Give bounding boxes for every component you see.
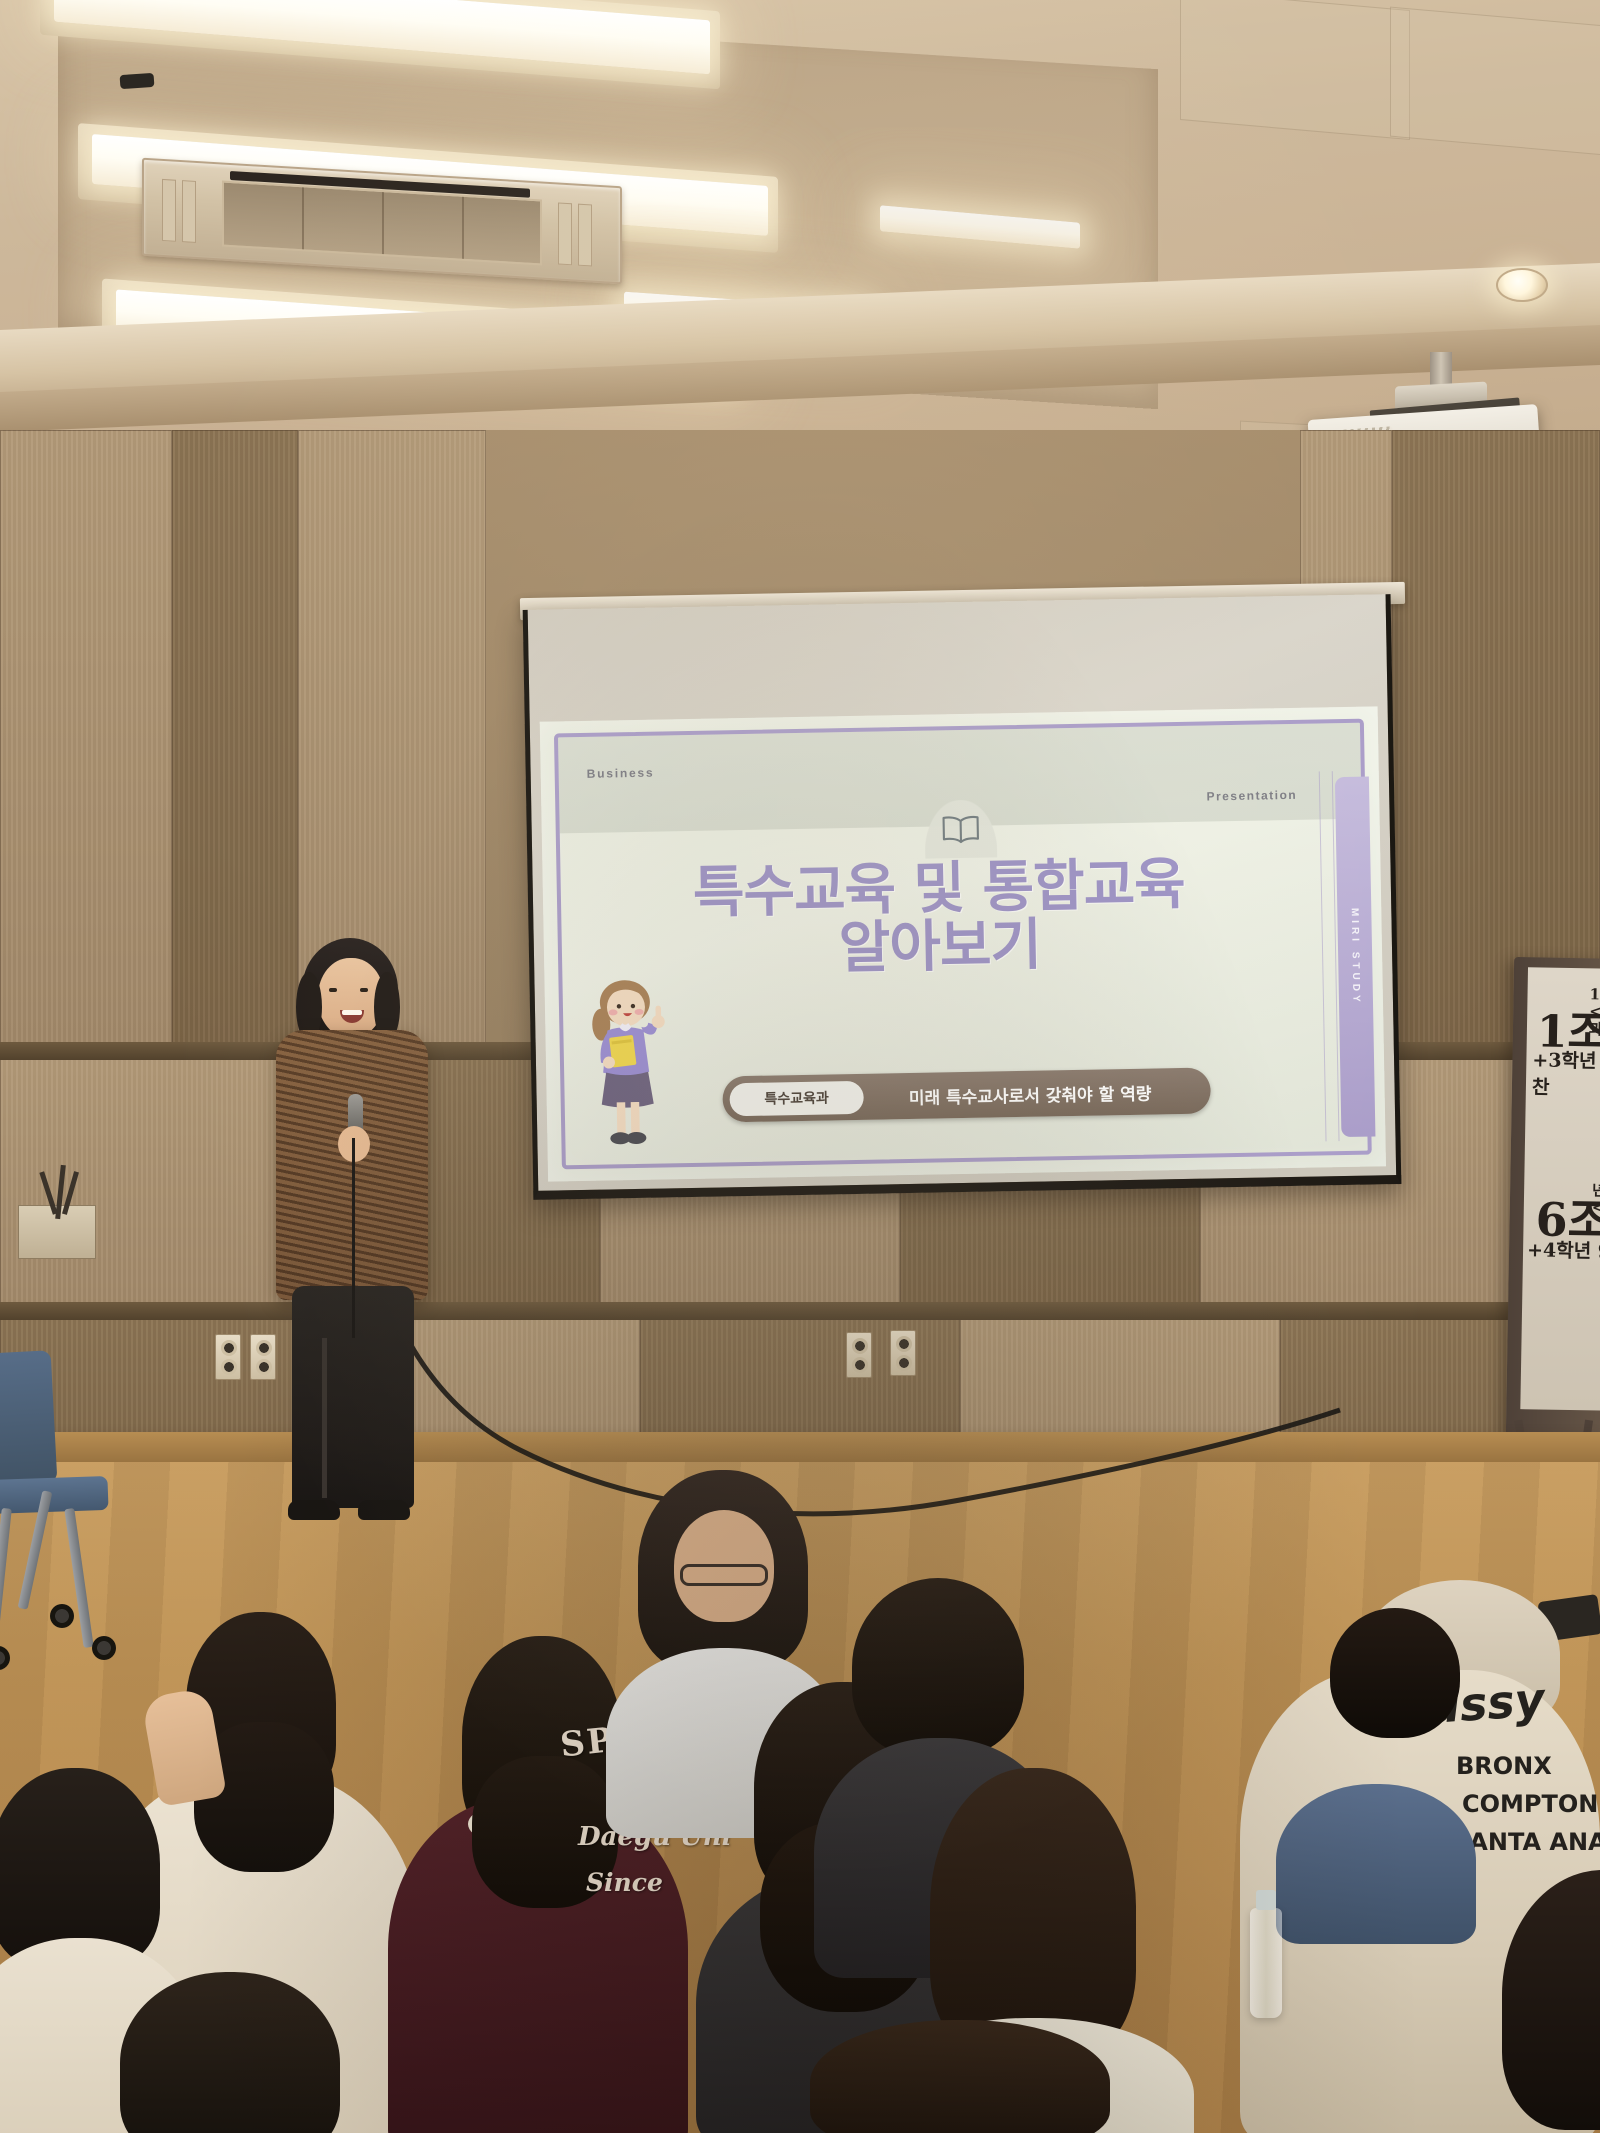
chair-caster <box>50 1604 74 1628</box>
slide-kicker-right: Presentation <box>1206 788 1297 804</box>
lecture-hall-photo: EPSON <box>0 0 1600 2133</box>
varsity-jacket-line4: Since <box>586 1868 663 1897</box>
projected-slide: Business Presentation 특수교육 및 통합교육 알아보기 <box>540 706 1386 1181</box>
ceiling-tile <box>1390 7 1600 156</box>
projector-lens <box>120 73 155 89</box>
slide-kicker-left: Business <box>587 766 655 781</box>
slide-side-tab: MIRI STUDY <box>1335 777 1376 1138</box>
recessed-downlight <box>1496 268 1548 302</box>
presenter-trouser-seam <box>322 1338 327 1498</box>
cartoon-teacher-illustration <box>578 977 673 1149</box>
slide-subtitle-bar: 특수교육과 미래 특수교사로서 갖춰야 할 역량 <box>722 1067 1211 1122</box>
whiteboard-note-2: +3학년 반찬 <box>1532 1045 1600 1101</box>
ceiling-tile <box>1180 0 1410 140</box>
ac-vane <box>162 179 176 242</box>
audience-member <box>1502 1870 1600 2133</box>
presenter-shoe-left <box>288 1500 340 1520</box>
presenter-shoe-right <box>358 1500 410 1520</box>
presenter-speaker <box>262 938 452 1528</box>
projection-screen: Business Presentation 특수교육 및 통합교육 알아보기 <box>523 594 1402 1200</box>
ac-vane <box>558 202 572 265</box>
bottle-cap <box>1256 1890 1276 1910</box>
chair-seat <box>0 1476 109 1514</box>
projector-ceiling-mount <box>1430 352 1452 386</box>
slide-title: 특수교육 및 통합교육 알아보기 <box>542 853 1336 984</box>
slide-subtitle-text: 미래 특수교사로서 갖춰야 할 역량 <box>863 1078 1210 1109</box>
microphone-cable <box>352 1138 355 1338</box>
whiteboard-note-1-detail: 1조에 <대> 과음 <box>1589 986 1600 1038</box>
hoodie-line2: COMPTON <box>1462 1790 1598 1818</box>
chair-backrest <box>0 1350 57 1485</box>
audience-member <box>120 1972 340 2133</box>
slide-side-tab-text: MIRI STUDY <box>1349 908 1362 1006</box>
audience-member <box>1310 1608 1480 1908</box>
ac-vane <box>182 180 196 243</box>
water-bottle[interactable] <box>1250 1908 1282 2018</box>
department-badge: 특수교육과 <box>729 1080 864 1115</box>
audience-member <box>810 2020 1110 2133</box>
ac-vane <box>578 204 592 267</box>
